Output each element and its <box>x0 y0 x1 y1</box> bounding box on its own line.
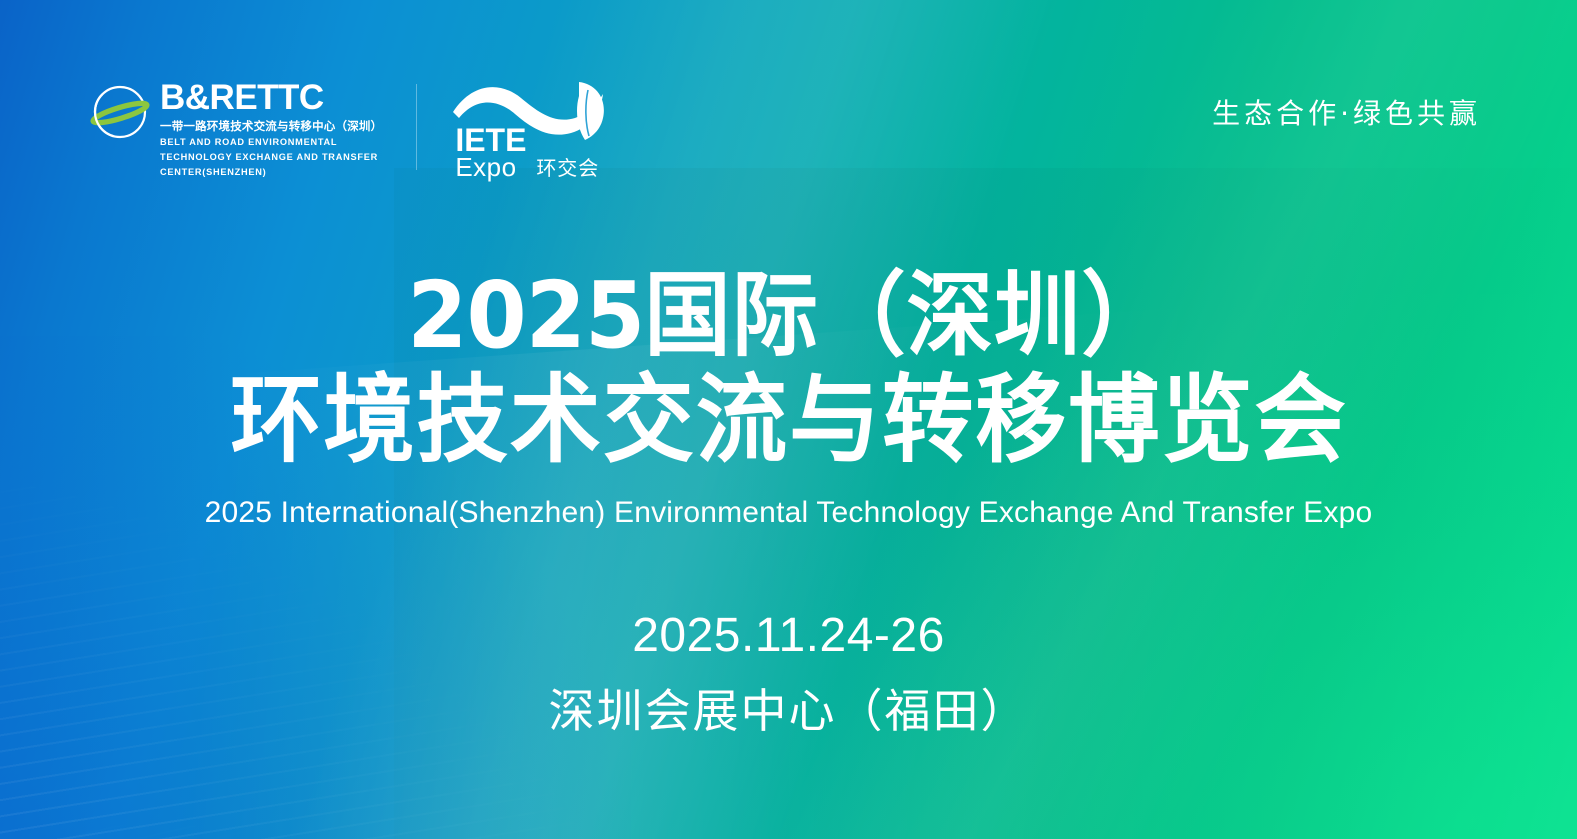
subtitle-english: 2025 International(Shenzhen) Environment… <box>205 496 1373 530</box>
title-line-2: 环境技术交流与转移博览会 <box>230 372 1347 470</box>
iete-expo-word: Expo <box>455 154 516 180</box>
banner-header: B&RETTC 一带一路环境技术交流与转移中心（深圳） BELT AND ROA… <box>0 0 1577 210</box>
title-line-1: 2025国际（深圳） <box>408 268 1169 364</box>
background-glow-bottom-left <box>0 336 631 839</box>
iete-chinese-short: 环交会 <box>536 158 599 178</box>
banner-slogan: 生态合作·绿色共赢 <box>1212 92 1481 132</box>
title-line-1-rest: 国际（深圳） <box>645 262 1170 369</box>
iete-logo: IETE Expo 环交会 <box>451 78 611 182</box>
background-line-pattern-secondary <box>0 359 1130 839</box>
brettc-english-line2: TECHNOLOGY EXCHANGE AND TRANSFER <box>160 151 382 164</box>
logo-divider <box>416 84 417 170</box>
globe-circle-icon <box>90 82 150 142</box>
brettc-logo: B&RETTC 一带一路环境技术交流与转移中心（深圳） BELT AND ROA… <box>90 78 382 179</box>
title-year: 2025 <box>408 262 645 369</box>
brettc-wordmark: B&RETTC 一带一路环境技术交流与转移中心（深圳） BELT AND ROA… <box>160 78 382 179</box>
event-date: 2025.11.24-26 <box>632 608 945 663</box>
brettc-english-line1: BELT AND ROAD ENVIRONMENTAL <box>160 136 382 149</box>
background-light-sweep-c <box>0 270 1577 839</box>
brettc-acronym: B&RETTC <box>160 80 382 115</box>
background-glow-bottom-right <box>789 294 1577 839</box>
logo-group: B&RETTC 一带一路环境技术交流与转移中心（深圳） BELT AND ROA… <box>90 78 611 182</box>
expo-banner: B&RETTC 一带一路环境技术交流与转移中心（深圳） BELT AND ROA… <box>0 0 1577 839</box>
event-venue: 深圳会展中心（福田） <box>549 675 1029 741</box>
brettc-chinese-name: 一带一路环境技术交流与转移中心（深圳） <box>160 119 382 134</box>
brettc-english-line3: CENTER(SHENZHEN) <box>160 166 382 179</box>
background-shade-right <box>394 168 1577 839</box>
